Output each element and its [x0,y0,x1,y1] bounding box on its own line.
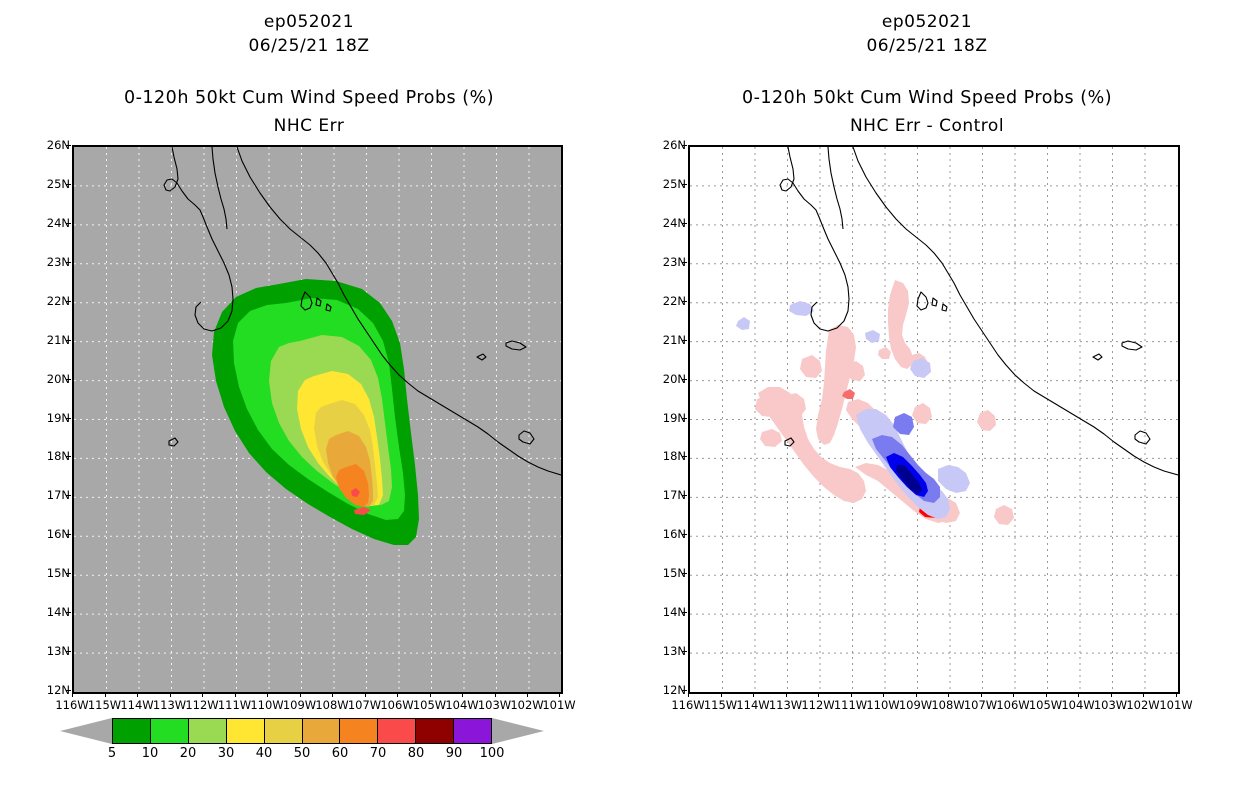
x-label: 106W [380,698,413,712]
left-title: 0-120h 50kt Cum Wind Speed Probs (%) [0,88,618,108]
x-label: 116W [55,698,88,712]
panel-nhc-err-minus-control: ep052021 06/25/21 18Z 0-120h 50kt Cum Wi… [618,0,1236,800]
colorbar-block-6 [340,719,378,743]
x-label: 111W [834,698,867,712]
x-label: 102W [1126,698,1159,712]
colorbar-tick-label: 5 [108,746,116,761]
x-label: 112W [185,698,218,712]
colorbar-block-2 [189,719,227,743]
colorbar-blocks [112,718,492,744]
x-label: 109W [283,698,316,712]
right-title-group-date: 06/25/21 18Z [618,36,1236,56]
colorbar-tick-label: 20 [180,746,197,761]
colorbar-labels: 5102030405060708090100 [112,746,492,764]
left-title-group-id: ep052021 [0,12,618,32]
x-label: 104W [1061,698,1094,712]
x-label: 103W [478,698,511,712]
colorbar-block-5 [303,719,341,743]
right-storm-id: ep052021 [618,12,1236,32]
left-y-axis: 26N 25N 24N 23N 22N 21N 20N 19N 18N 17N … [34,145,70,690]
colorbar-block-1 [151,719,189,743]
colorbar-block-8 [416,719,454,743]
x-label: 103W [1094,698,1127,712]
colorbar-tick-label: 30 [218,746,235,761]
x-label: 104W [445,698,478,712]
panel-nhc-err: ep052021 06/25/21 18Z 0-120h 50kt Cum Wi… [0,0,618,800]
x-label: 108W [931,698,964,712]
x-label: 101W [1159,698,1192,712]
colorbar-over-arrow [492,718,544,744]
right-x-axis: 116W 115W 114W 113W 112W 111W 110W 109W … [688,698,1176,714]
colorbar-tick-label: 80 [408,746,425,761]
colorbar-tick-label: 100 [480,746,505,761]
left-subtitle: NHC Err [0,116,618,136]
x-label: 108W [315,698,348,712]
left-x-axis: 116W 115W 114W 113W 112W 111W 110W 109W … [72,698,559,714]
x-label: 110W [866,698,899,712]
right-title-group-id: ep052021 [618,12,1236,32]
colorbar-block-0 [113,719,151,743]
x-label: 114W [736,698,769,712]
x-label: 107W [348,698,381,712]
x-label: 105W [413,698,446,712]
x-label: 107W [964,698,997,712]
x-label: 116W [671,698,704,712]
x-label: 101W [542,698,575,712]
x-label: 115W [88,698,121,712]
left-map-plot [72,145,563,694]
right-coastline [690,147,1178,692]
x-label: 114W [120,698,153,712]
right-title-group-main: 0-120h 50kt Cum Wind Speed Probs (%) [618,88,1236,108]
left-storm-id: ep052021 [0,12,618,32]
right-map-plot [688,145,1180,694]
left-title-group-sub: NHC Err [0,116,618,136]
x-label: 113W [769,698,802,712]
right-title-group-sub: NHC Err - Control [618,116,1236,136]
right-subtitle: NHC Err - Control [618,116,1236,136]
colorbar-tick-label: 60 [332,746,349,761]
right-title: 0-120h 50kt Cum Wind Speed Probs (%) [618,88,1236,108]
colorbar-tick-label: 40 [256,746,273,761]
colorbar-under-arrow [60,718,112,744]
left-datetime: 06/25/21 18Z [0,36,618,56]
left-coastline [74,147,561,692]
colorbar-block-7 [378,719,416,743]
x-label: 109W [899,698,932,712]
colorbar-block-9 [454,719,491,743]
right-y-axis: 26N 25N 24N 23N 22N 21N 20N 19N 18N 17N … [650,145,686,690]
x-label: 112W [801,698,834,712]
colorbar-block-3 [227,719,265,743]
x-label: 115W [704,698,737,712]
left-y-ticks [66,145,72,690]
x-label: 105W [1029,698,1062,712]
x-label: 111W [218,698,251,712]
colorbar-tick-label: 10 [142,746,159,761]
x-label: 113W [153,698,186,712]
x-label: 106W [996,698,1029,712]
colorbar-tick-label: 90 [446,746,463,761]
colorbar-block-4 [265,719,303,743]
right-datetime: 06/25/21 18Z [618,36,1236,56]
right-y-ticks [682,145,688,690]
x-label: 110W [250,698,283,712]
left-title-group-main: 0-120h 50kt Cum Wind Speed Probs (%) [0,88,618,108]
left-colorbar: 5102030405060708090100 [112,718,492,744]
colorbar-tick-label: 50 [294,746,311,761]
x-label: 102W [510,698,543,712]
left-title-group-date: 06/25/21 18Z [0,36,618,56]
colorbar-tick-label: 70 [370,746,387,761]
